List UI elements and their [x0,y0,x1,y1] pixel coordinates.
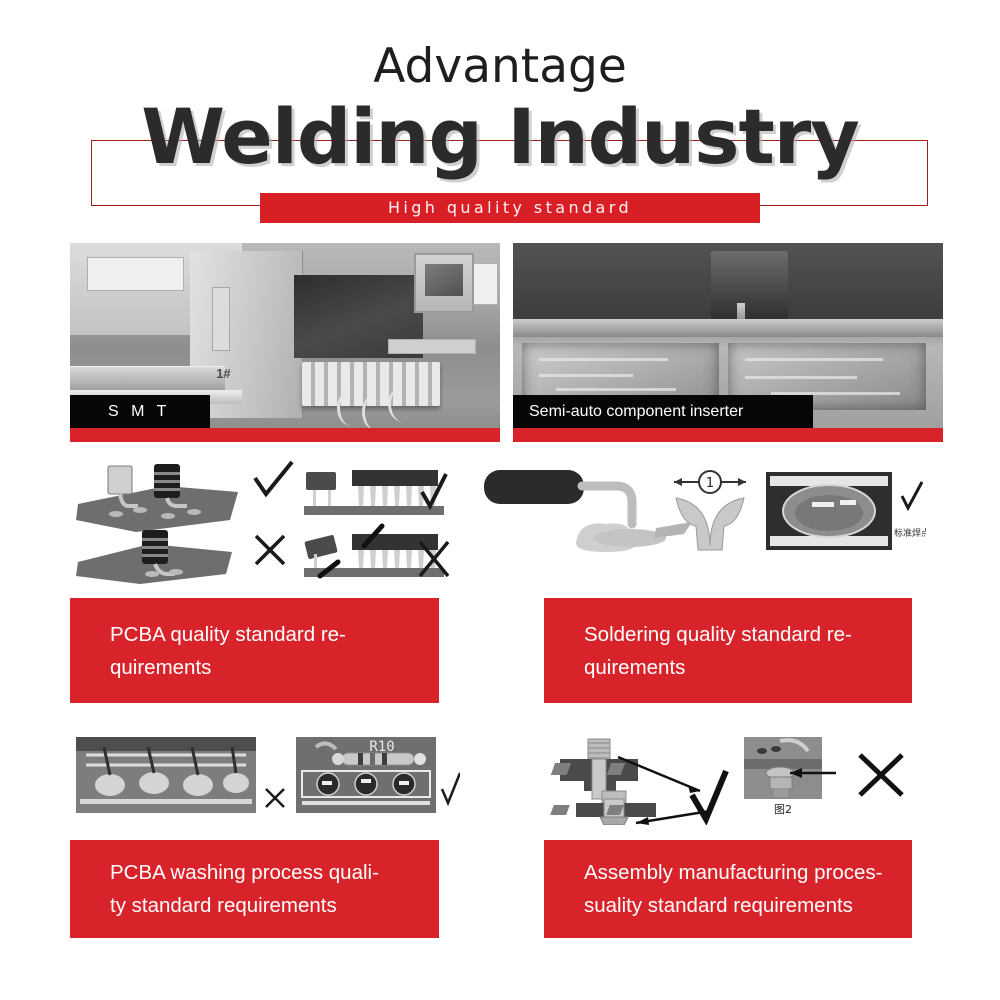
subtitle-banner: High quality standard [260,193,760,223]
caption-assembly-text: Assembly manufacturing proces- suality s… [544,856,897,922]
dirty-board-photo [76,737,256,813]
caption-pcba-quality[interactable]: PCBA quality standard re- quirements [70,598,439,703]
fillet-profile-illustration: 1 [674,471,746,550]
check-mark-icon [442,773,460,803]
clean-board-photo: R10 [296,737,436,813]
svg-text:1: 1 [706,476,714,491]
assembly-photo-note: 图2 [774,803,792,816]
poster-root: Advantage Welding Industry High quality … [0,0,1000,1000]
check-mark-icon [692,771,726,819]
subtitle-text: High quality standard [260,193,760,223]
check-mark-icon [902,482,922,508]
page-title: Welding Industry [0,95,1000,179]
cross-mark-icon [266,789,284,807]
solder-photo-note: 标准焊点 [894,527,926,539]
caption-assembly-quality[interactable]: Assembly manufacturing proces- suality s… [544,840,912,938]
connector-bad-illustration [304,526,444,577]
inserter-photo-label: Semi-auto component inserter [513,395,813,428]
pcba-bad-illustration [76,530,232,584]
photo-card-inserter: Semi-auto component inserter [513,243,943,442]
caption-pcba-text: PCBA quality standard re- quirements [70,618,360,684]
caption-washing-quality[interactable]: PCBA washing process quali- ty standard … [70,840,439,938]
smt-label-text: S M T [70,403,186,421]
cross-mark-icon [860,755,902,795]
soldering-diagram: 1 标准焊点 [478,458,926,568]
pcba-diagram [70,458,450,586]
photo-card-smt: 1# S M T [70,243,500,442]
eyebrow-title: Advantage [0,42,1000,92]
inserter-accent-stripe [513,428,943,442]
washing-diagram: R10 [70,733,460,825]
header: Advantage Welding Industry High quality … [0,0,1000,235]
caption-washing-text: PCBA washing process quali- ty standard … [70,856,393,922]
caption-soldering-text: Soldering quality standard re- quirement… [544,618,866,684]
inserter-label-text: Semi-auto component inserter [513,403,759,421]
cross-mark-icon [256,536,284,564]
smt-photo-label: S M T [70,395,210,428]
check-mark-icon [255,462,292,494]
wire-solder-illustration [484,470,692,552]
screw-assembly-good-illustration [551,739,638,799]
caption-soldering-quality[interactable]: Soldering quality standard re- quirement… [544,598,912,703]
assembly-diagram: 图2 [540,733,920,825]
nut-assembly-good-illustration [550,791,656,825]
smt-accent-stripe [70,428,500,442]
pcba-good-illustration [76,464,238,532]
solder-joint-photo [766,472,892,550]
assembly-reject-photo [744,737,822,799]
